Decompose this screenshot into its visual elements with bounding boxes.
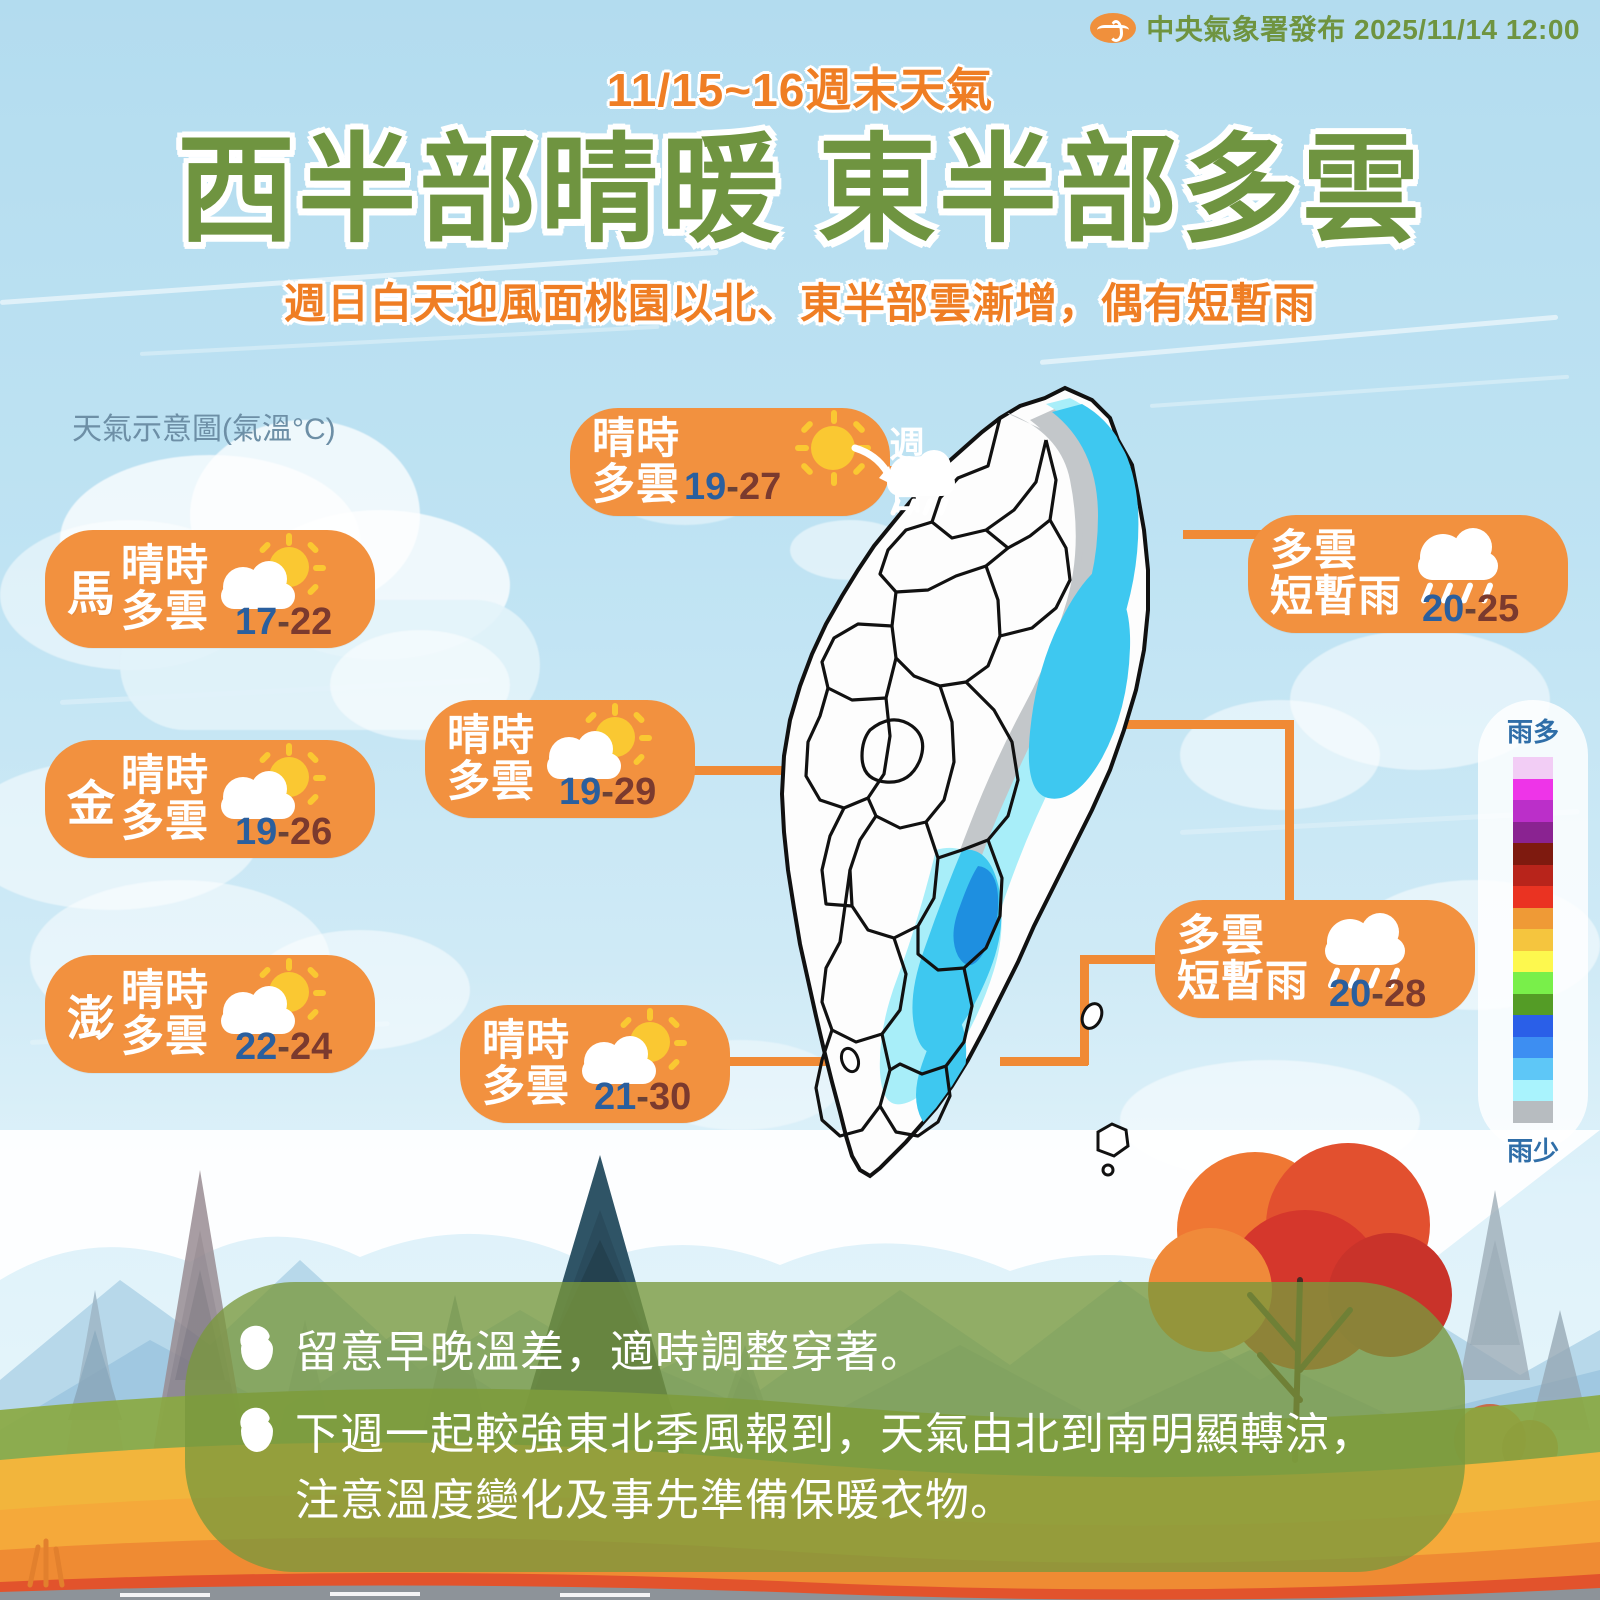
- acorn-bullet-icon: [239, 1326, 275, 1372]
- legend-color-band: [1513, 1101, 1553, 1123]
- icon-group: 21-30: [578, 1014, 708, 1114]
- condition-text: 晴時 多雲: [121, 543, 209, 636]
- rain-legend: 雨多 雨少: [1478, 700, 1588, 1150]
- temp-range: 19-29: [559, 771, 656, 814]
- legend-color-band: [1513, 800, 1553, 822]
- legend-color-band: [1513, 779, 1553, 801]
- region-label: 馬: [67, 554, 115, 624]
- condition-text: 晴時 多雲: [447, 713, 535, 806]
- weather-card-penghu[interactable]: 澎 晴時 多雲 22-24: [45, 955, 375, 1073]
- weather-card-central[interactable]: 晴時 多雲 19-29: [425, 700, 695, 818]
- icon-group: 19-26: [217, 749, 347, 849]
- legend-color-band: [1513, 886, 1553, 908]
- weather-card-matsu[interactable]: 馬 晴時 多雲 17-22: [45, 530, 375, 648]
- legend-color-band: [1513, 951, 1553, 973]
- acorn-bullet-icon: [239, 1408, 275, 1454]
- condition-text: 晴時 多雲: [121, 753, 209, 846]
- condition-text: 晴時 多雲19-27: [592, 416, 781, 509]
- weather-card-kinmen[interactable]: 金 晴時 多雲 19-26: [45, 740, 375, 858]
- weather-card-south[interactable]: 晴時 多雲 21-30: [460, 1005, 730, 1123]
- legend-bottom-label: 雨少: [1507, 1131, 1559, 1168]
- region-label: 澎: [67, 979, 115, 1049]
- temp-high: 27: [739, 466, 781, 508]
- condition-text: 多雲 短暫雨: [1270, 528, 1402, 621]
- tips-panel: 留意早晚溫差，適時調整穿著。 下週一起較強東北季風報到，天氣由北到南明顯轉涼，注…: [185, 1282, 1465, 1572]
- infographic-root: 中央氣象署發布 2025/11/14 12:00 11/15~16週末天氣 西半…: [0, 0, 1600, 1600]
- legend-top-label: 雨多: [1507, 712, 1559, 749]
- legend-color-band: [1513, 994, 1553, 1016]
- weather-card-northeast[interactable]: 多雲 短暫雨 20-25: [1248, 515, 1568, 633]
- legend-color-band: [1513, 865, 1553, 887]
- icon-group: 20-28: [1317, 909, 1457, 1009]
- temp-range: 22-24: [235, 1026, 332, 1069]
- title-subtitle: 週日白天迎風面桃園以北、東半部雲漸增，偶有短暫雨: [0, 270, 1600, 331]
- page-title: 西半部晴暖 東半部多雲: [0, 120, 1600, 264]
- temp-low: 19: [684, 466, 726, 508]
- temp-range: 21-30: [594, 1076, 691, 1119]
- weather-card-north[interactable]: 晴時 多雲19-27 週日: [570, 408, 890, 516]
- condition-text: 晴時 多雲: [121, 968, 209, 1061]
- icon-group: 19-29: [543, 709, 673, 809]
- legend-color-band: [1513, 1015, 1553, 1037]
- header-issued-text: 中央氣象署發布 2025/11/14 12:00: [1146, 8, 1580, 48]
- legend-colorbar: [1513, 757, 1553, 1123]
- legend-color-band: [1513, 972, 1553, 994]
- tip-item: 下週一起較強東北季風報到，天氣由北到南明顯轉涼，注意溫度變化及事先準備保暖衣物。: [239, 1402, 1411, 1534]
- icon-group: 20-25: [1410, 524, 1550, 624]
- header: 中央氣象署發布 2025/11/14 12:00: [1090, 8, 1580, 48]
- icon-group: 22-24: [217, 964, 347, 1064]
- condition-text: 晴時 多雲: [482, 1018, 570, 1111]
- tip-item: 留意早晚溫差，適時調整穿著。: [239, 1320, 1411, 1386]
- weather-card-east[interactable]: 多雲 短暫雨 20-28: [1155, 900, 1475, 1018]
- legend-color-band: [1513, 822, 1553, 844]
- temp-range: 19-26: [235, 811, 332, 854]
- legend-color-band: [1513, 843, 1553, 865]
- legend-color-band: [1513, 929, 1553, 951]
- temp-range: 20-28: [1329, 973, 1426, 1016]
- region-label: 金: [67, 764, 115, 834]
- condition-text: 多雲 短暫雨: [1177, 913, 1309, 1006]
- icon-group: 週日: [789, 412, 959, 512]
- tip-text: 下週一起較強東北季風報到，天氣由北到南明顯轉涼，注意溫度變化及事先準備保暖衣物。: [295, 1402, 1411, 1534]
- icon-group: 17-22: [217, 539, 347, 639]
- legend-color-band: [1513, 1080, 1553, 1102]
- temp-range: 20-25: [1422, 588, 1519, 631]
- legend-color-band: [1513, 908, 1553, 930]
- legend-color-band: [1513, 757, 1553, 779]
- map-legend-label: 天氣示意圖(氣溫°C): [72, 404, 336, 448]
- tip-text: 留意早晚溫差，適時調整穿著。: [295, 1320, 925, 1386]
- title-block: 11/15~16週末天氣 西半部晴暖 東半部多雲 週日白天迎風面桃園以北、東半部…: [0, 54, 1600, 331]
- title-date-line: 11/15~16週末天氣: [0, 54, 1600, 120]
- legend-color-band: [1513, 1037, 1553, 1059]
- cwa-wave-logo-icon: [1090, 13, 1136, 43]
- temp-range: 17-22: [235, 601, 332, 644]
- legend-color-band: [1513, 1058, 1553, 1080]
